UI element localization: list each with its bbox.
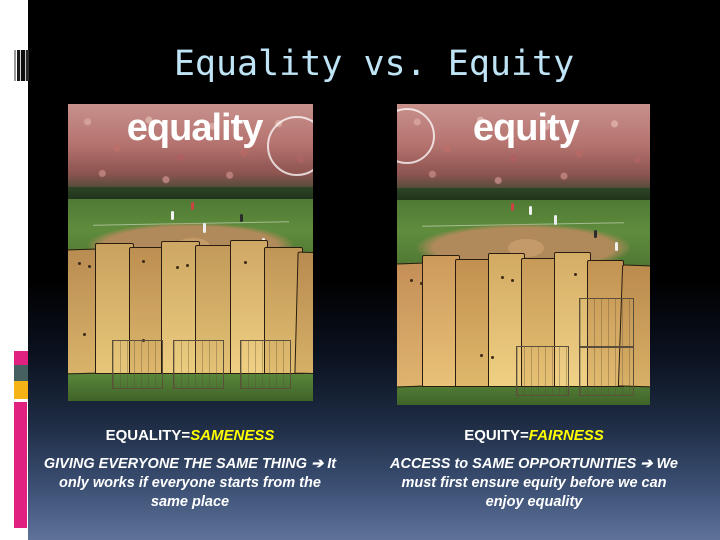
accent-chip-gold [14,381,28,399]
caption-equity: EQUITY=FAIRNESS ACCESS to SAME OPPORTUNI… [384,426,684,512]
fence-knot [186,264,189,267]
image-equity: equity [397,104,650,405]
caption-equality-heading-plain: EQUALITY= [106,427,191,444]
fence-knot [420,282,423,285]
image-overlay-word: equality [127,107,263,150]
caption-equality-heading-highlight: SAMENESS [190,427,274,444]
caption-equity-heading-plain: EQUITY= [464,427,529,444]
distant-player [203,223,206,233]
accent-chip-teal [14,365,28,381]
equity-box-3 [579,346,634,396]
caption-equality-body: GIVING EVERYONE THE SAME THING ➔ It only… [40,455,340,512]
barcode-stripes-decoration [14,50,29,81]
slide-canvas: Equality vs. Equity equality [0,0,720,540]
accent-chip-pink [14,351,28,365]
distant-player [529,206,532,215]
equality-scene: equality [68,104,313,401]
caption-equality: EQUALITY=SAMENESS GIVING EVERYONE THE SA… [40,426,340,512]
distant-player [554,215,557,225]
fence-plank [455,259,492,387]
equity-box-1 [516,346,569,396]
equality-box-3 [240,340,291,390]
fence-knot [142,260,145,263]
image-overlay-word: equity [473,107,579,150]
image-equality: equality [68,104,313,401]
equity-scene: equity [397,104,650,405]
caption-equity-body: ACCESS to SAME OPPORTUNITIES ➔ We must f… [384,455,684,512]
caption-equity-heading-highlight: FAIRNESS [529,427,604,444]
distant-player [171,211,174,220]
distant-player [511,203,514,211]
fence-plank [422,255,459,387]
equality-box-2 [173,340,224,390]
caption-equity-heading: EQUITY=FAIRNESS [384,426,684,445]
fence-knot [501,276,504,279]
caption-equality-heading: EQUALITY=SAMENESS [40,426,340,445]
slide-title: Equality vs. Equity [28,44,720,84]
fence-knot [410,279,413,282]
equality-box-1 [112,340,163,390]
distant-player [240,214,243,222]
equity-box-2 [579,298,634,348]
fence-plank [294,252,313,375]
accent-bar-pink [14,402,27,528]
fence-knot [511,279,514,282]
distant-player [191,202,194,210]
fence-knot [88,265,91,268]
